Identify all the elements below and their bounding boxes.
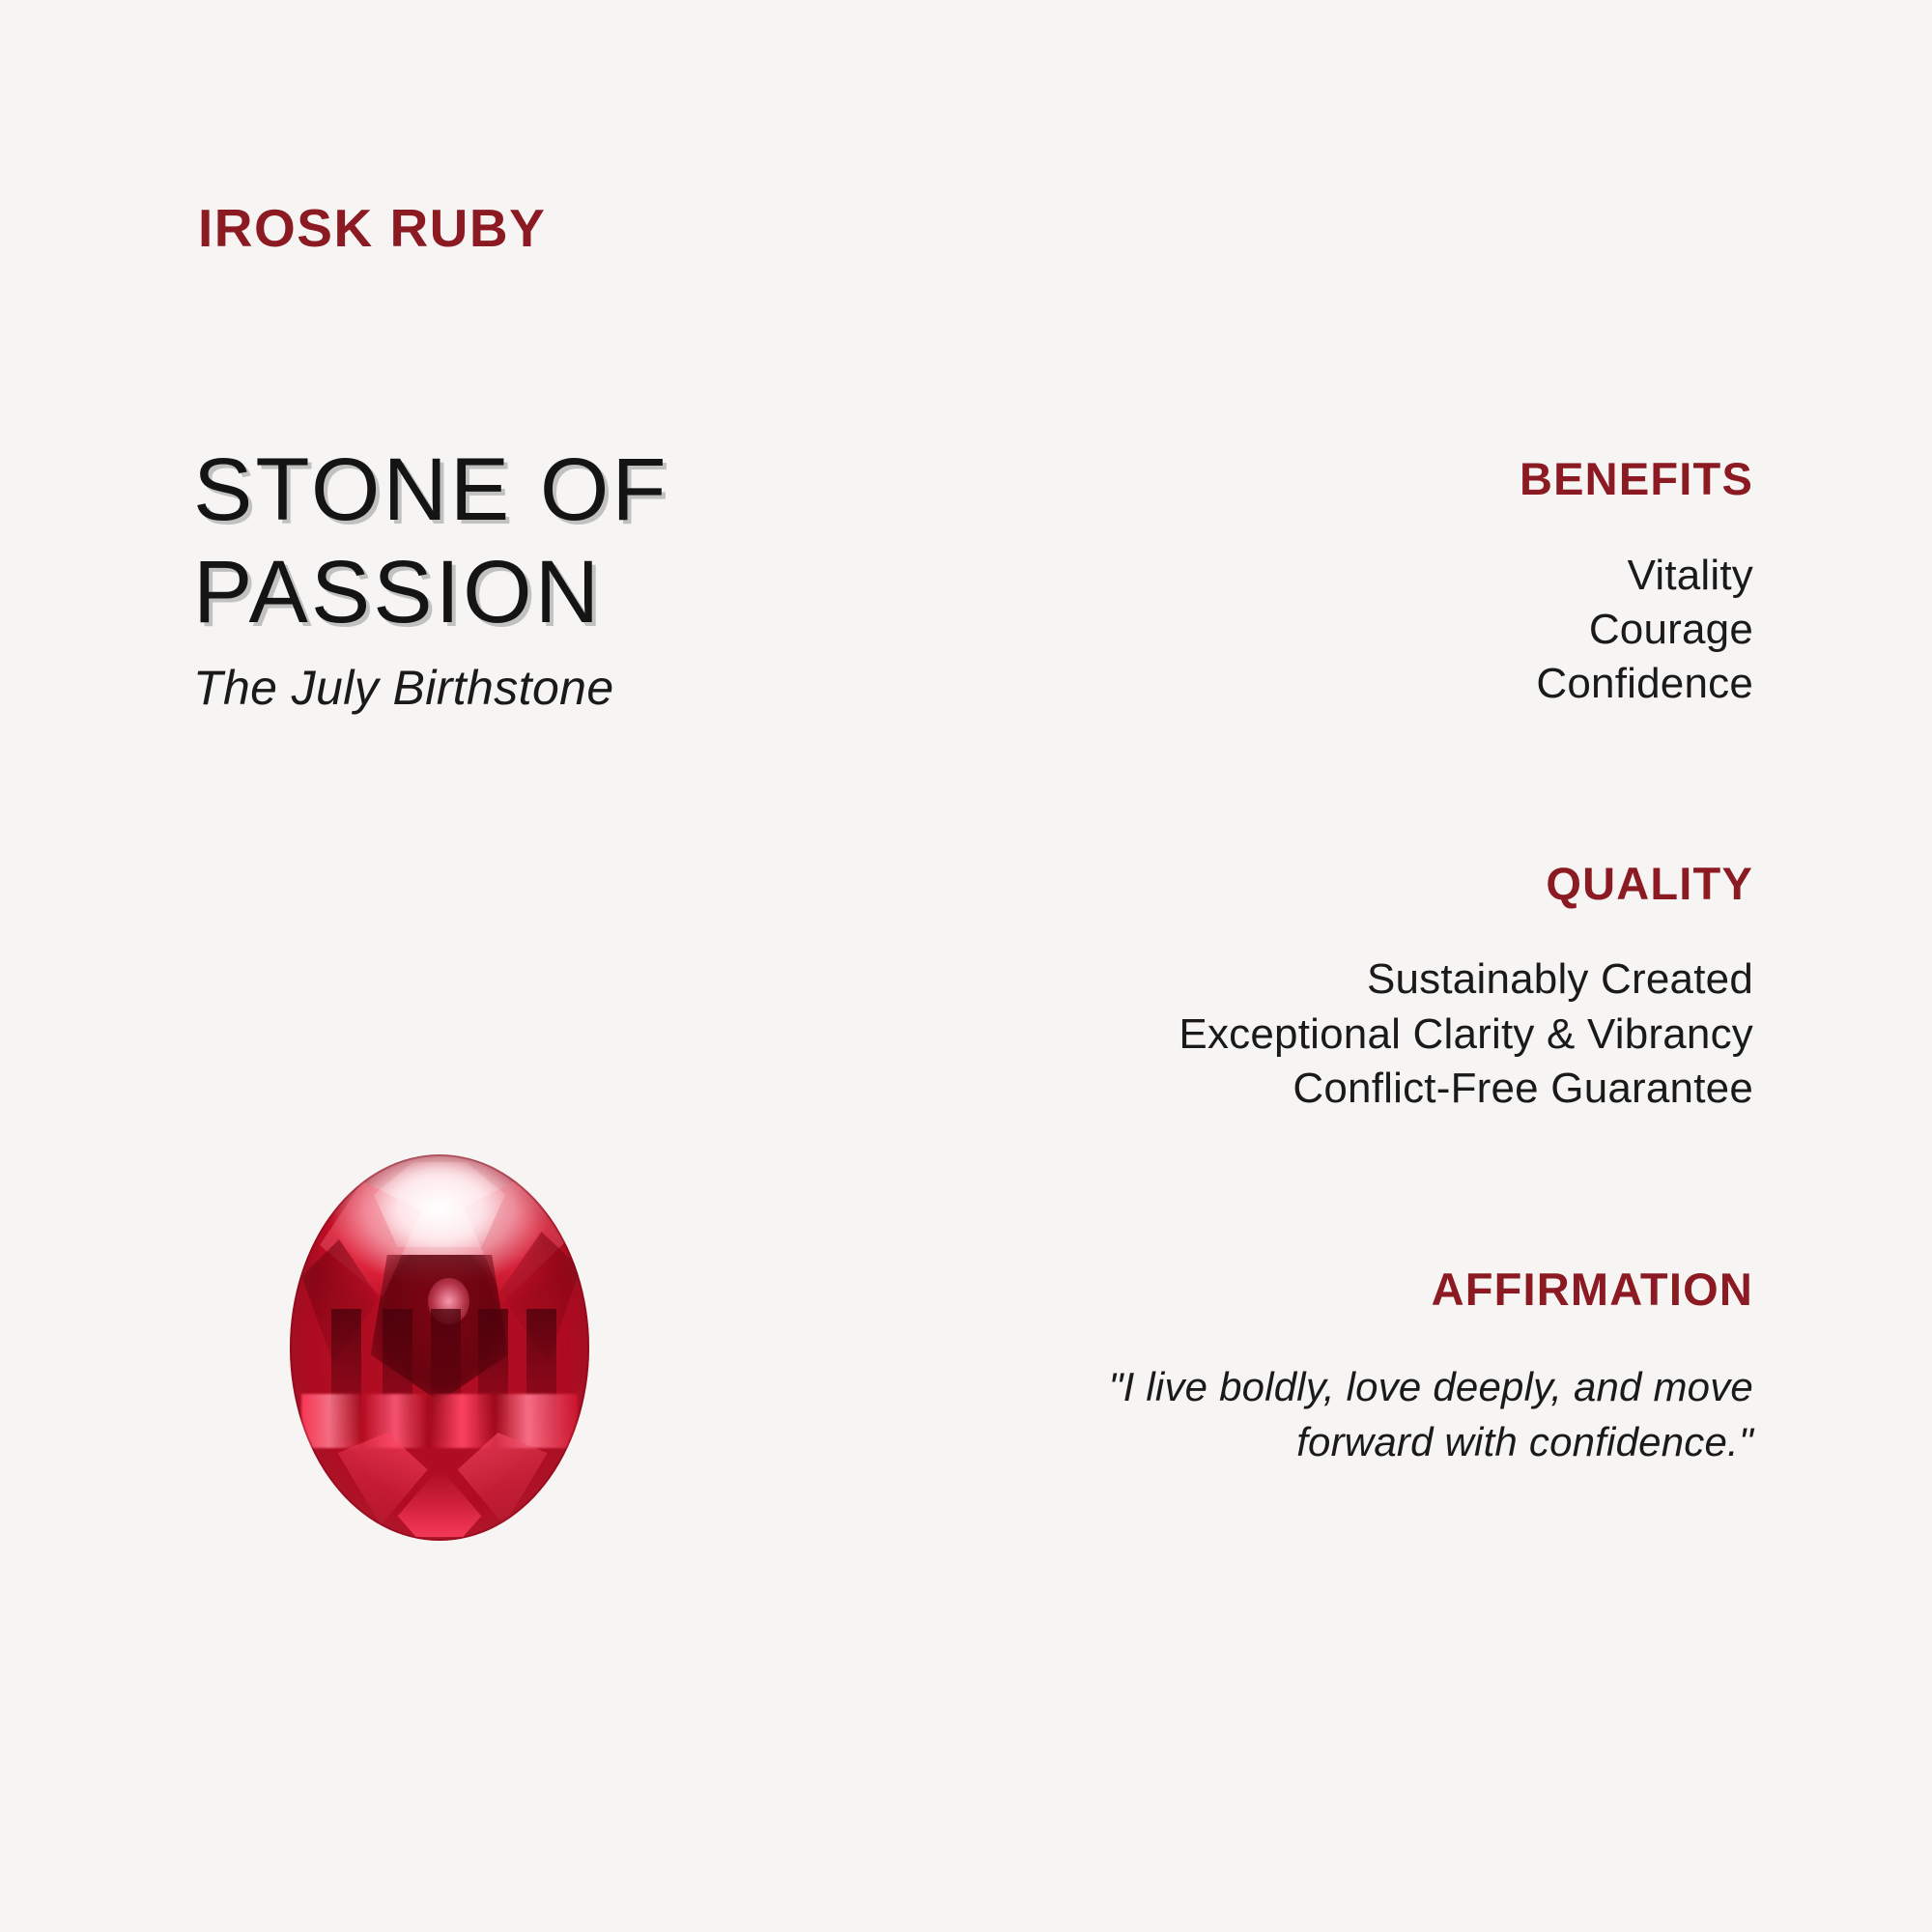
section-benefits: BENEFITS Vitality Courage Confidence xyxy=(923,454,1753,712)
headline-line-2: PASSION xyxy=(193,542,927,644)
section-title-affirmation: AFFIRMATION xyxy=(923,1264,1753,1315)
brand-title: IROSK RUBY xyxy=(198,197,546,259)
list-item: Courage xyxy=(923,603,1753,657)
info-column: BENEFITS Vitality Courage Confidence QUA… xyxy=(923,454,1753,1469)
hero-subtitle: The July Birthstone xyxy=(193,660,927,716)
list-item: Sustainably Created xyxy=(923,952,1753,1007)
list-item: Conflict-Free Guarantee xyxy=(923,1062,1753,1116)
page-title: STONE OF PASSION xyxy=(193,440,927,644)
gem-girdle-edge xyxy=(290,1154,589,1541)
list-item: Vitality xyxy=(923,549,1753,603)
hero-text-block: STONE OF PASSION The July Birthstone xyxy=(193,440,927,716)
headline-line-1: STONE OF xyxy=(193,440,927,542)
list-item: Confidence xyxy=(923,657,1753,711)
list-item: Exceptional Clarity & Vibrancy xyxy=(923,1008,1753,1062)
section-affirmation: AFFIRMATION "I live boldly, love deeply,… xyxy=(923,1264,1753,1469)
section-title-benefits: BENEFITS xyxy=(923,454,1753,504)
section-quality: QUALITY Sustainably Created Exceptional … xyxy=(923,859,1753,1117)
quality-list: Sustainably Created Exceptional Clarity … xyxy=(923,952,1753,1116)
ruby-birthstone-card: IROSK RUBY STONE OF PASSION The July Bir… xyxy=(0,0,1932,1932)
affirmation-quote: "I live boldly, love deeply, and move fo… xyxy=(923,1359,1753,1469)
section-title-quality: QUALITY xyxy=(923,859,1753,909)
ruby-gemstone-image xyxy=(290,1154,589,1541)
benefits-list: Vitality Courage Confidence xyxy=(923,549,1753,712)
